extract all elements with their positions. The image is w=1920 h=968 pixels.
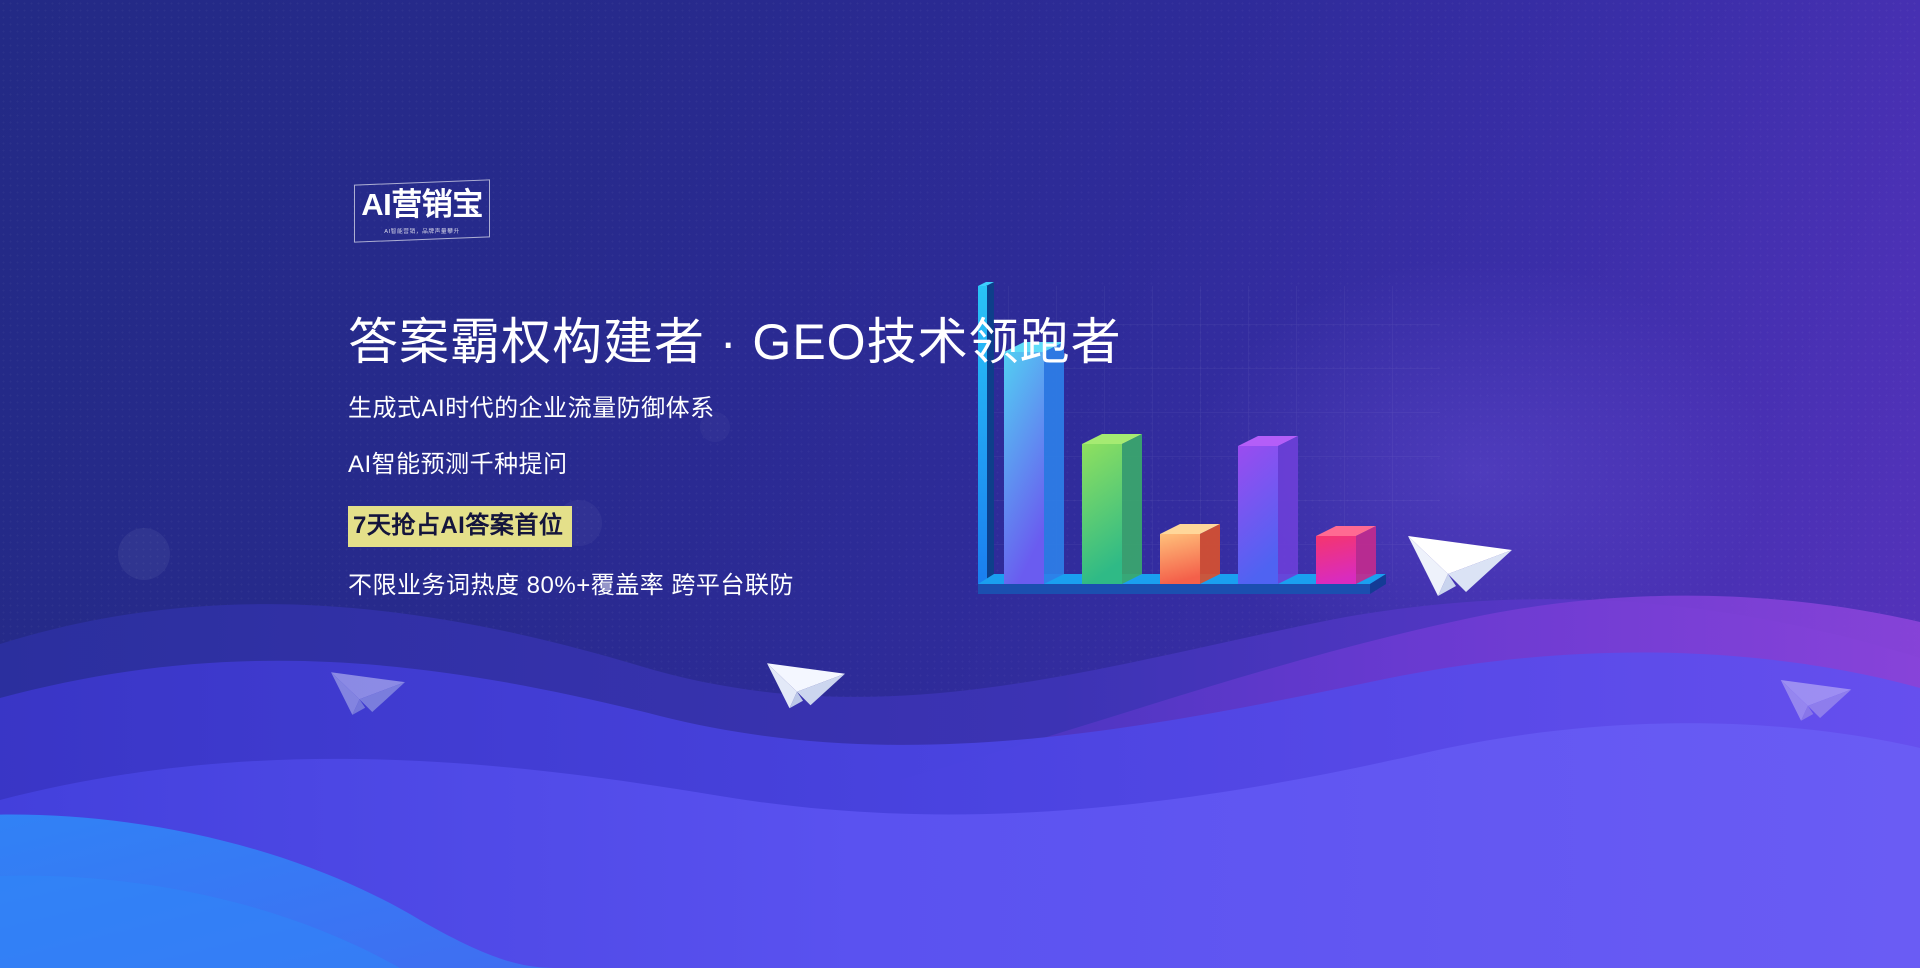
logo-wordmark: AI营销宝	[354, 188, 490, 222]
paper-plane-icon-right	[1404, 516, 1516, 606]
paper-plane-icon-left	[328, 658, 408, 722]
highlight-badge: 7天抢占AI答案首位	[348, 506, 572, 547]
bar-3	[1160, 524, 1220, 584]
hero-banner: AI营销宝 AI智能营销，品牌声量攀升 答案霸权构建者 · GEO技术领跑者 生…	[0, 0, 1920, 968]
feature-line: 不限业务词热度 80%+覆盖率 跨平台联防	[348, 571, 1122, 601]
paper-plane-icon-center	[764, 648, 848, 716]
bar-4	[1238, 436, 1298, 584]
paper-plane-icon-far-right	[1778, 666, 1854, 728]
brand-logo[interactable]: AI营销宝 AI智能营销，品牌声量攀升	[354, 182, 490, 240]
page-title: 答案霸权构建者 · GEO技术领跑者	[348, 312, 1122, 372]
bar-5	[1316, 526, 1376, 584]
logo-tagline: AI智能营销，品牌声量攀升	[357, 226, 486, 235]
hero-copy-block: 答案霸权构建者 · GEO技术领跑者 生成式AI时代的企业流量防御体系 AI智能…	[348, 312, 1122, 601]
subtitle-line-2: AI智能预测千种提问	[348, 450, 1122, 480]
highlight-wrapper: 7天抢占AI答案首位	[348, 506, 1122, 571]
subtitle-line-1: 生成式AI时代的企业流量防御体系	[348, 394, 1122, 424]
